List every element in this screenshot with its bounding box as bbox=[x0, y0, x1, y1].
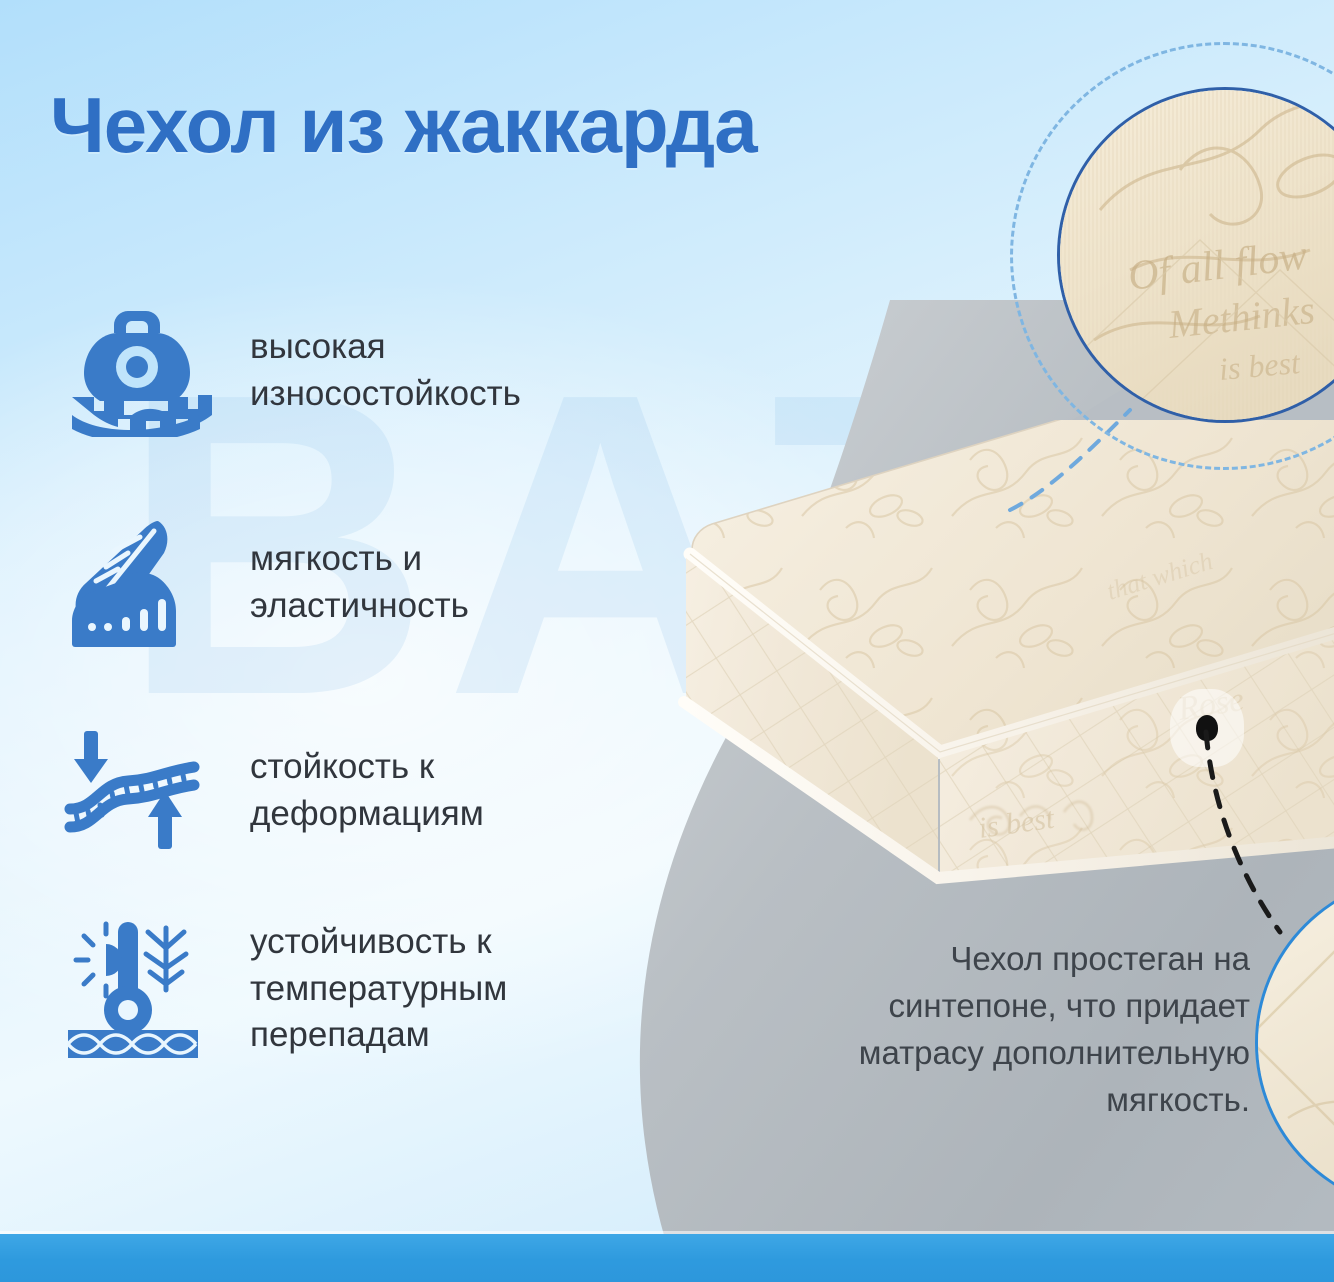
product-caption: Чехол простеган на синтепоне, что придае… bbox=[780, 936, 1250, 1123]
feature-label: мягкость и эластичность bbox=[250, 536, 469, 630]
svg-text:is best: is best bbox=[976, 802, 1056, 845]
feature-label-line-3: перепадам bbox=[250, 1015, 430, 1054]
feature-label-line-1: стойкость к bbox=[250, 747, 434, 786]
feature-label-line-1: устойчивость к bbox=[250, 922, 492, 961]
feature-label-line-1: мягкость и bbox=[250, 539, 422, 578]
svg-text:that which: that which bbox=[1103, 546, 1216, 606]
feature-list: высокая износостойкость bbox=[58, 296, 678, 1064]
feature-item-temperature-resistance: устойчивость к температурным перепадам bbox=[58, 914, 678, 1064]
zoom-detail-bottom-right bbox=[1258, 878, 1334, 1208]
feature-label-line-2: деформациям bbox=[250, 794, 484, 833]
infographic-poster: ВАТА bbox=[0, 0, 1334, 1282]
feature-label: высокая износостойкость bbox=[250, 324, 521, 418]
svg-text:is best: is best bbox=[1217, 344, 1302, 387]
footer-bar bbox=[0, 1234, 1334, 1282]
feature-label: устойчивость к температурным перепадам bbox=[250, 919, 507, 1060]
feature-label-line-2: эластичность bbox=[250, 586, 469, 625]
weight-on-mattress-icon bbox=[58, 296, 216, 446]
feature-item-deformation-resistance: стойкость к деформациям bbox=[58, 716, 678, 866]
feature-item-softness-elasticity: мягкость и эластичность bbox=[58, 508, 678, 658]
feature-label-line-1: высокая bbox=[250, 327, 386, 366]
feature-label-line-2: температурным bbox=[250, 969, 507, 1008]
callout-pin-marker bbox=[1196, 715, 1218, 741]
feature-label: стойкость к деформациям bbox=[250, 744, 484, 838]
deformation-arrows-icon bbox=[58, 716, 216, 866]
page-title: Чехол из жаккарда bbox=[50, 80, 757, 171]
feather-on-mattress-icon bbox=[58, 508, 216, 658]
thermometer-sun-snowflake-icon bbox=[58, 914, 216, 1064]
feature-item-wear-resistance: высокая износостойкость bbox=[58, 296, 678, 446]
feature-label-line-2: износостойкость bbox=[250, 374, 521, 413]
